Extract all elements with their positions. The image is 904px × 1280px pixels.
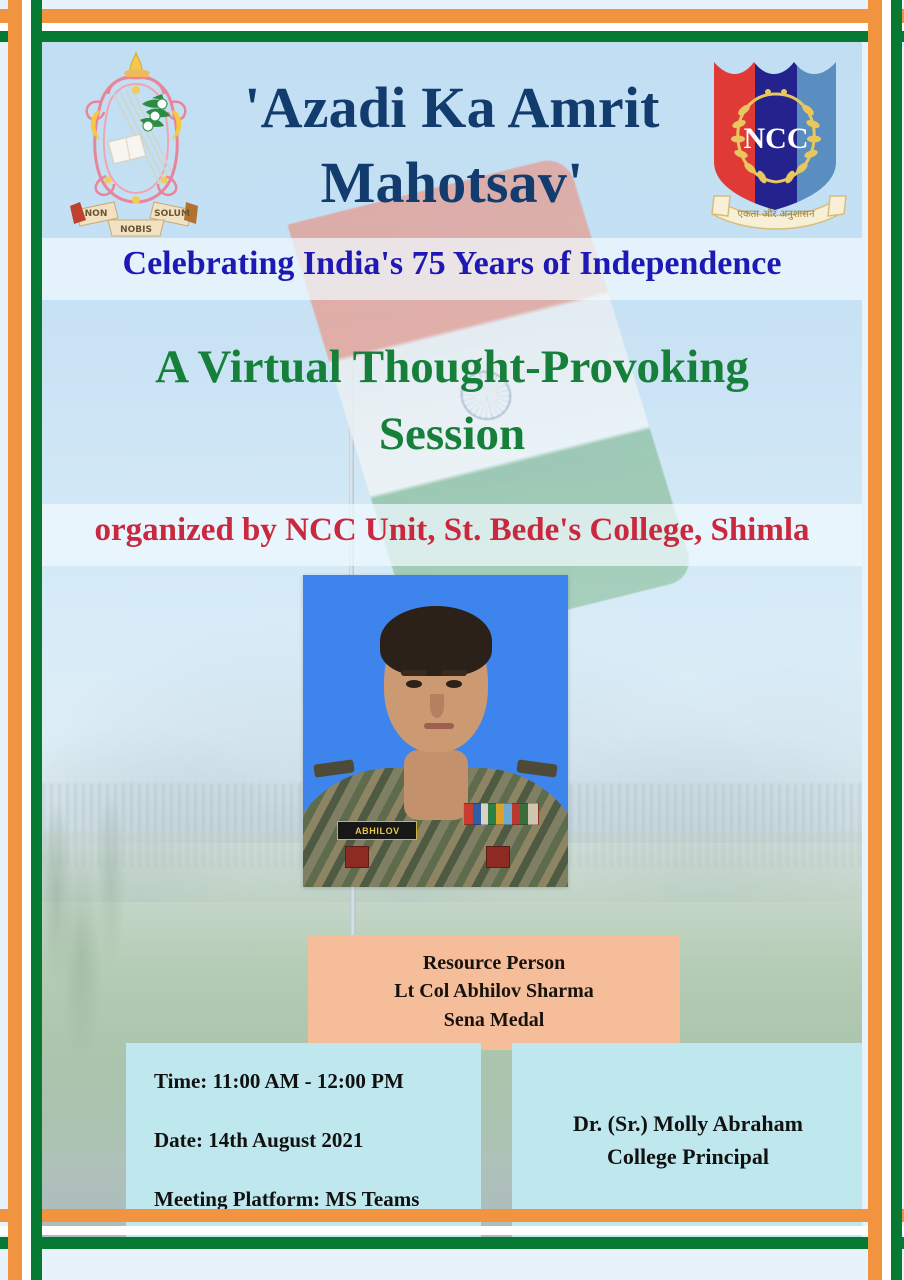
event-time: Time: 11:00 AM - 12:00 PM [154, 1069, 481, 1094]
resource-person-label: Resource Person [318, 949, 670, 977]
principal-box: Dr. (Sr.) Molly Abraham College Principa… [512, 1043, 862, 1237]
border-right-white [882, 0, 891, 1280]
border-top-green [0, 31, 904, 42]
unit-badge-right [486, 846, 510, 868]
speaker-eye-left [406, 680, 422, 688]
event-platform: Meeting Platform: MS Teams [154, 1187, 481, 1212]
poster-root: NON NOBIS SOLUM [0, 0, 904, 1280]
crest-motto-right: SOLUM [154, 209, 190, 219]
speaker-hair [380, 606, 492, 676]
resource-person-award: Sena Medal [318, 1006, 670, 1034]
principal-name: Dr. (Sr.) Molly Abraham [573, 1108, 803, 1141]
border-bottom-green [0, 1237, 904, 1249]
resource-person-box: Resource Person Lt Col Abhilov Sharma Se… [308, 935, 680, 1050]
principal-designation: College Principal [607, 1141, 769, 1174]
shoulder-rank-left [313, 759, 354, 777]
poster-subtitle: Celebrating India's 75 Years of Independ… [42, 245, 862, 283]
title-line-2: Mahotsav' [192, 145, 712, 220]
border-left-green [31, 0, 42, 1280]
crest-motto-center: NOBIS [120, 225, 152, 235]
border-left-saffron [8, 0, 22, 1280]
poster-title: 'Azadi Ka Amrit Mahotsav' [192, 70, 712, 221]
crest-motto-left: NON [85, 209, 108, 219]
shoulder-rank-right [517, 759, 558, 777]
st-bedes-college-crest-icon: NON NOBIS SOLUM [56, 50, 216, 240]
ncc-ribbon-motto: एकता और अनुशासन [737, 208, 815, 220]
poster-headline: A Virtual Thought-Provoking Session [82, 334, 822, 467]
speaker-mouth [424, 723, 454, 729]
event-details-box: Time: 11:00 AM - 12:00 PM Date: 14th Aug… [126, 1043, 481, 1237]
unit-badge-left [345, 846, 369, 868]
headline-line-1: A Virtual Thought-Provoking [82, 334, 822, 401]
event-date: Date: 14th August 2021 [154, 1128, 481, 1153]
border-right-saffron [868, 0, 882, 1280]
headline-line-2: Session [82, 401, 822, 468]
speaker-eye-right [446, 680, 462, 688]
poster-background: NON NOBIS SOLUM [42, 42, 862, 1237]
border-top-saffron [0, 9, 904, 23]
border-top-white [0, 23, 904, 31]
speaker-neck [404, 750, 468, 820]
speaker-photo: ABHILOV [303, 575, 568, 887]
organized-by-text: organized by NCC Unit, St. Bede's Colleg… [42, 512, 862, 549]
medal-ribbon-bar [463, 803, 539, 825]
resource-person-name: Lt Col Abhilov Sharma [318, 977, 670, 1005]
border-right-green [891, 0, 902, 1280]
speaker-nose [430, 694, 444, 718]
title-line-1: 'Azadi Ka Amrit [192, 70, 712, 145]
uniform-nametag: ABHILOV [337, 821, 417, 840]
speaker-eyebrow-left [401, 670, 427, 676]
ncc-emblem-icon: NCC एकता और अनुशासन [706, 44, 854, 242]
border-left-white [22, 0, 31, 1280]
ncc-acronym: NCC [744, 122, 809, 155]
speaker-eyebrow-right [441, 670, 467, 676]
